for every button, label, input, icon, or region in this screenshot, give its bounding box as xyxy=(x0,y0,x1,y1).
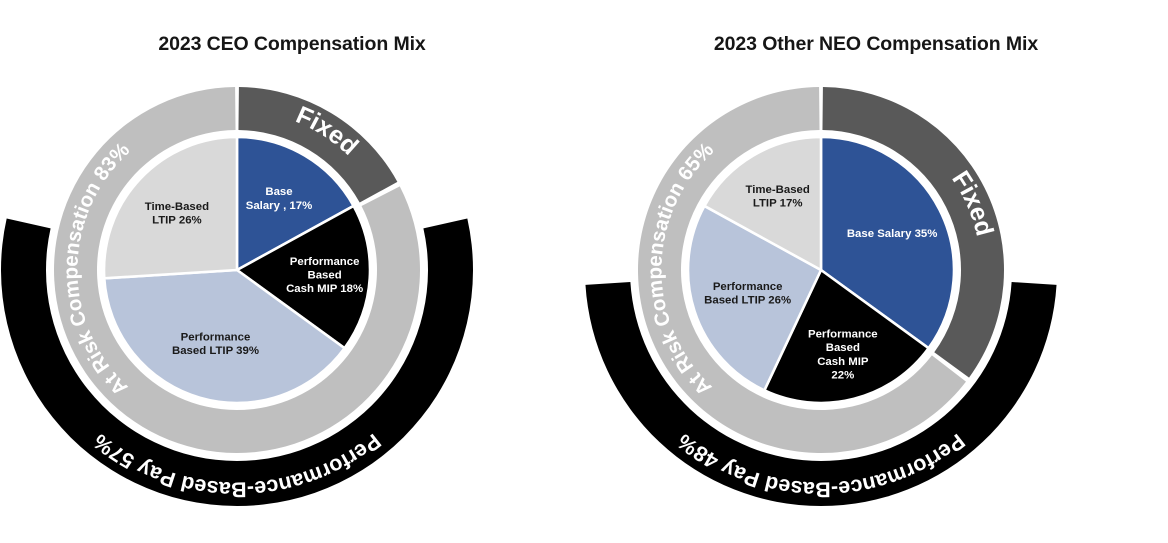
chart-panel-neo: 2023 Other NEO Compensation Mix Base Sal… xyxy=(584,0,1168,543)
chart-panel-ceo: 2023 CEO Compensation Mix BaseSalary , 1… xyxy=(0,0,584,543)
slice-label-time-based-ltip: Time-BasedLTIP 26% xyxy=(145,201,209,227)
slice-label-performance-based-ltip: PerformanceBased LTIP 26% xyxy=(704,281,791,307)
donut-chart-neo: Base Salary 35%PerformanceBasedCash MIP2… xyxy=(584,0,1168,543)
donut-chart-ceo: BaseSalary , 17%PerformanceBasedCash MIP… xyxy=(0,0,584,543)
slice-label-time-based-ltip: Time-BasedLTIP 17% xyxy=(745,184,809,210)
slice-label-base-salary: Base Salary 35% xyxy=(847,228,938,240)
slice-label-performance-based-ltip: PerformanceBased LTIP 39% xyxy=(172,331,259,357)
compensation-mix-board: 2023 CEO Compensation Mix BaseSalary , 1… xyxy=(0,0,1168,543)
